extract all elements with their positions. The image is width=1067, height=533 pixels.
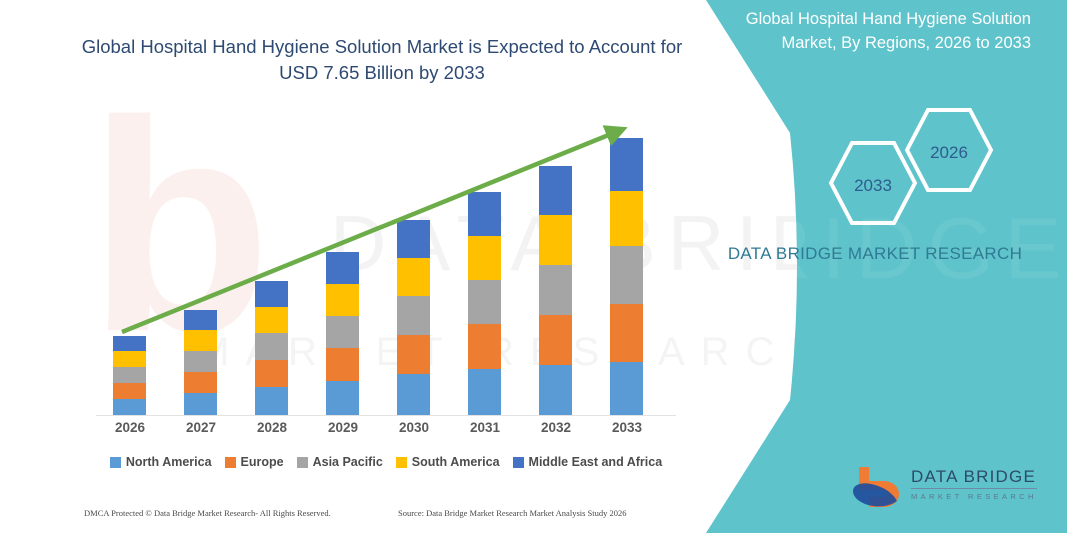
x-axis-labels: 20262027202820292030203120322033 — [96, 420, 676, 442]
bar-segment — [397, 335, 430, 374]
right-panel: BRIDGE — [682, 0, 1067, 533]
bar-segment — [113, 351, 146, 367]
chart-legend: North AmericaEuropeAsia PacificSouth Ame… — [96, 455, 676, 469]
bar-segment — [397, 296, 430, 335]
bar-segment — [184, 310, 217, 330]
x-tick-2030: 2030 — [382, 420, 446, 435]
dbmr-logo-text: DATA BRIDGE MARKET RESEARCH — [911, 467, 1037, 501]
legend-item-europe[interactable]: Europe — [225, 455, 284, 469]
bar-segment — [468, 192, 501, 236]
bar-segment — [113, 383, 146, 399]
bar-segment — [397, 220, 430, 258]
bar-segment — [539, 315, 572, 365]
bar-segment — [113, 367, 146, 383]
x-tick-2028: 2028 — [240, 420, 304, 435]
bar-segment — [184, 330, 217, 351]
bar-segment — [610, 138, 643, 191]
bar-segment — [610, 362, 643, 415]
bar-segment — [610, 304, 643, 362]
bar-segment — [255, 281, 288, 307]
legend-swatch-icon — [297, 457, 308, 468]
x-axis-line — [96, 415, 676, 416]
bar-segment — [255, 387, 288, 415]
bar-segment — [326, 284, 359, 316]
x-tick-2026: 2026 — [98, 420, 162, 435]
bar-segment — [255, 360, 288, 387]
legend-swatch-icon — [110, 457, 121, 468]
bar-segment — [468, 324, 501, 369]
bar-segment — [255, 307, 288, 333]
bar-2029[interactable] — [326, 252, 359, 415]
bar-2031[interactable] — [468, 192, 501, 415]
legend-item-south-america[interactable]: South America — [396, 455, 500, 469]
trend-arrow-icon — [96, 120, 676, 416]
bar-segment — [184, 393, 217, 415]
x-tick-2029: 2029 — [311, 420, 375, 435]
legend-swatch-icon — [513, 457, 524, 468]
x-tick-2033: 2033 — [595, 420, 659, 435]
bar-segment — [326, 252, 359, 284]
bar-2028[interactable] — [255, 281, 288, 415]
bar-segment — [539, 265, 572, 315]
hexagon-2033: 2033 — [827, 137, 919, 234]
legend-label: South America — [412, 455, 500, 469]
bar-2030[interactable] — [397, 220, 430, 415]
dbmr-logo: DATA BRIDGE MARKET RESEARCH — [849, 463, 1039, 511]
bar-2027[interactable] — [184, 310, 217, 415]
bar-segment — [326, 381, 359, 415]
x-tick-2031: 2031 — [453, 420, 517, 435]
bar-segment — [184, 351, 217, 372]
panel-brand-text: DATA BRIDGE MARKET RESEARCH — [725, 241, 1025, 267]
bar-segment — [539, 365, 572, 415]
bar-segment — [468, 280, 501, 324]
bar-2032[interactable] — [539, 166, 572, 415]
x-tick-2027: 2027 — [169, 420, 233, 435]
stacked-bar-chart — [96, 120, 676, 416]
bar-segment — [184, 372, 217, 393]
bar-segment — [468, 369, 501, 415]
bar-segment — [397, 374, 430, 415]
dbmr-b-logo-icon — [849, 463, 907, 509]
legend-label: Asia Pacific — [313, 455, 383, 469]
legend-swatch-icon — [225, 457, 236, 468]
page-title: Global Hospital Hand Hygiene Solution Ma… — [72, 34, 692, 87]
hexagon-2033-label: 2033 — [827, 137, 919, 234]
bar-segment — [539, 215, 572, 265]
bar-segment — [539, 166, 572, 215]
dbmr-logo-name: DATA BRIDGE — [911, 467, 1037, 489]
legend-swatch-icon — [396, 457, 407, 468]
dbmr-logo-tagline: MARKET RESEARCH — [911, 492, 1037, 501]
legend-label: North America — [126, 455, 212, 469]
legend-label: Europe — [241, 455, 284, 469]
slide-canvas: b DATA BRIDGE MARKET RESEARCH Global Hos… — [0, 0, 1067, 533]
bar-2033[interactable] — [610, 138, 643, 415]
bar-segment — [397, 258, 430, 296]
footer-copyright: DMCA Protected © Data Bridge Market Rese… — [84, 508, 331, 518]
footer-source: Source: Data Bridge Market Research Mark… — [398, 508, 627, 518]
bar-2026[interactable] — [113, 336, 146, 415]
bar-segment — [610, 246, 643, 304]
bar-segment — [113, 399, 146, 415]
bar-segment — [326, 348, 359, 381]
legend-item-asia-pacific[interactable]: Asia Pacific — [297, 455, 383, 469]
bar-segment — [113, 336, 146, 351]
bar-segment — [326, 316, 359, 348]
legend-item-north-america[interactable]: North America — [110, 455, 212, 469]
panel-title: Global Hospital Hand Hygiene Solution Ma… — [731, 8, 1031, 56]
bar-segment — [255, 333, 288, 360]
bar-segment — [610, 191, 643, 246]
legend-item-middle-east-and-africa[interactable]: Middle East and Africa — [513, 455, 663, 469]
bar-segment — [468, 236, 501, 280]
legend-label: Middle East and Africa — [529, 455, 663, 469]
x-tick-2032: 2032 — [524, 420, 588, 435]
